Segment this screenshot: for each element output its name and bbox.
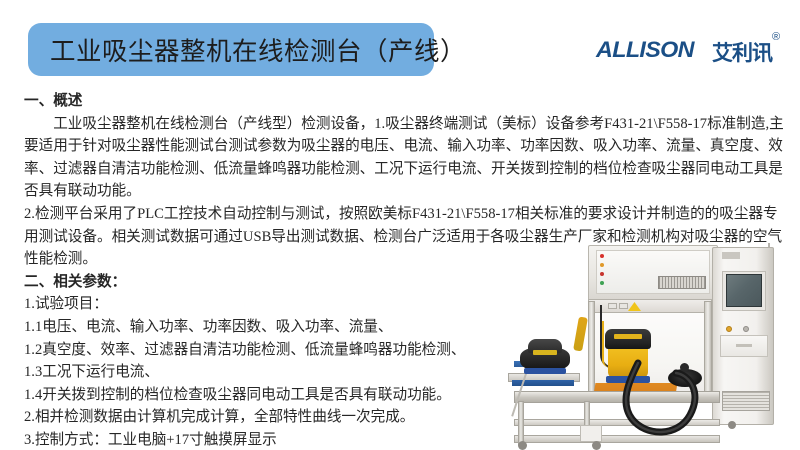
overview-paragraph-1: 工业吸尘器整机在线检测台（产线型）检测设备，1.吸尘器终端测试（美标）设备参考F… bbox=[24, 113, 784, 203]
vacuum-hose-icon bbox=[500, 243, 800, 450]
param-item-6: 3.控制方式：工业电脑+17寸触摸屏显示 bbox=[24, 429, 544, 450]
page-title: 工业吸尘器整机在线检测台（产线） bbox=[50, 31, 466, 68]
equipment-photo bbox=[500, 243, 800, 450]
param-item-1: 1.1电压、电流、输入功率、功率因数、吸入功率、流量、 bbox=[24, 316, 544, 339]
logo-wordmark: ALLISON bbox=[596, 37, 694, 63]
param-item-5: 2.相并检测数据由计算机完成计算，全部特性曲线一次完成。 bbox=[24, 406, 544, 429]
page-title-badge: 工业吸尘器整机在线检测台（产线） bbox=[28, 23, 434, 76]
param-item-2: 1.2真空度、效率、过滤器自清洁功能检测、低流量蜂鸣器功能检测、 bbox=[24, 339, 544, 362]
param-item-4: 1.4开关拨到控制的档位检查吸尘器同电动工具是否具有联动功能。 bbox=[24, 384, 544, 407]
logo-chinese-name: 艾利讯 bbox=[712, 37, 772, 67]
registered-trademark-icon: ® bbox=[772, 31, 780, 43]
slide-root: 工业吸尘器整机在线检测台（产线） ALLISON 艾利讯 ® 一、概述 工业吸尘… bbox=[0, 0, 800, 450]
company-logo: ALLISON 艾利讯 ® bbox=[596, 37, 786, 73]
section-one-heading: 一、概述 bbox=[24, 90, 784, 113]
param-item-0: 1.试验项目： bbox=[24, 293, 544, 316]
param-item-3: 1.3工况下运行电流、 bbox=[24, 361, 544, 384]
